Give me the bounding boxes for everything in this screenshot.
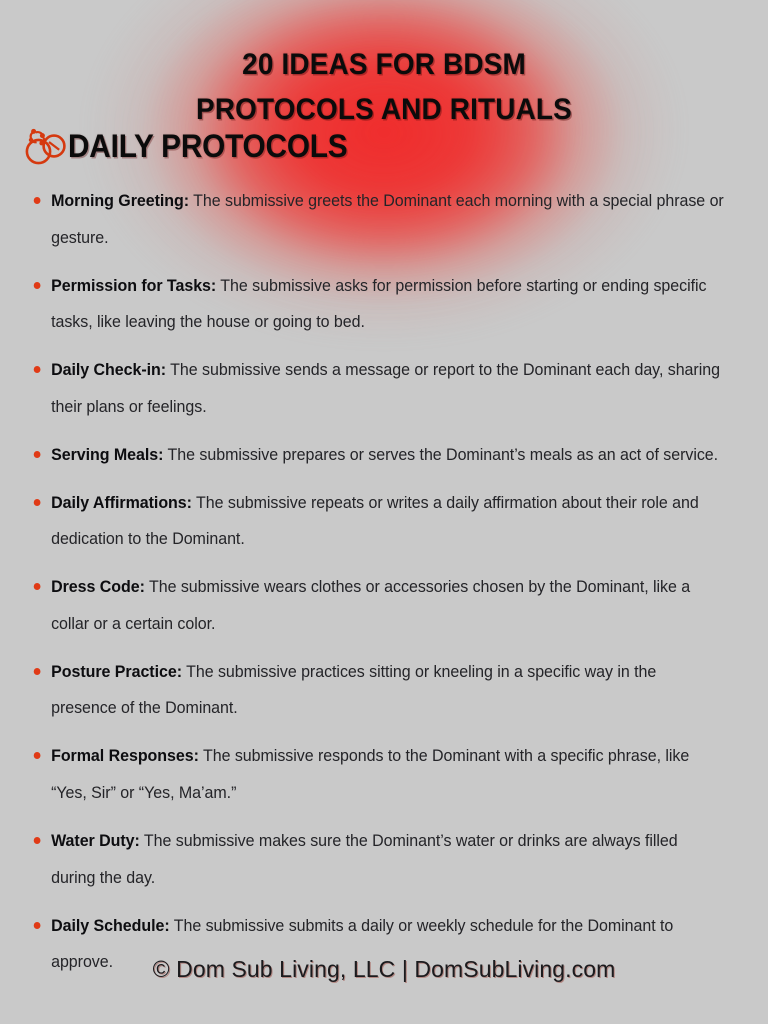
list-item-term: Daily Check-in: xyxy=(51,360,166,379)
list-item-desc: The submissive prepares or serves the Do… xyxy=(163,445,718,464)
bullet-dot-icon xyxy=(34,837,41,844)
poster-content: 20 IDEAS FOR BDSM PROTOCOLS AND RITUALS xyxy=(0,0,768,1024)
section-heading: DAILY PROTOCOLS xyxy=(22,124,368,168)
list-item: Serving Meals: The submissive prepares o… xyxy=(26,437,725,474)
list-item-desc: The submissive makes sure the Dominant’s… xyxy=(51,831,678,887)
footer-copyright: © Dom Sub Living, LLC | DomSubLiving.com xyxy=(0,955,768,983)
list-item: Permission for Tasks: The submissive ask… xyxy=(26,268,725,341)
bullet-dot-icon xyxy=(34,499,41,506)
bullet-dot-icon xyxy=(34,451,41,458)
list-item-term: Daily Schedule: xyxy=(51,916,170,935)
bullet-dot-icon xyxy=(34,668,41,675)
list-item: Dress Code: The submissive wears clothes… xyxy=(26,569,725,642)
list-item: Morning Greeting: The submissive greets … xyxy=(26,183,725,256)
list-item-term: Morning Greeting: xyxy=(51,191,189,210)
poster-page: 20 IDEAS FOR BDSM PROTOCOLS AND RITUALS xyxy=(0,0,768,1024)
list-item-term: Formal Responses: xyxy=(51,746,199,765)
handcuffs-icon xyxy=(22,124,66,168)
list-item-term: Posture Practice: xyxy=(51,662,182,681)
bullet-dot-icon xyxy=(34,583,41,590)
list-item: Posture Practice: The submissive practic… xyxy=(26,654,725,727)
page-title-line-1: 20 IDEAS FOR BDSM xyxy=(27,42,741,87)
page-title: 20 IDEAS FOR BDSM PROTOCOLS AND RITUALS xyxy=(27,42,741,132)
section-heading-label: DAILY PROTOCOLS xyxy=(68,128,347,164)
list-item-term: Daily Affirmations: xyxy=(51,493,192,512)
list-item-desc: The submissive wears clothes or accessor… xyxy=(51,577,690,633)
list-item-term: Water Duty: xyxy=(51,831,140,850)
list-item-term: Permission for Tasks: xyxy=(51,276,216,295)
list-item: Water Duty: The submissive makes sure th… xyxy=(26,823,725,896)
list-item-term: Serving Meals: xyxy=(51,445,163,464)
protocol-list: Morning Greeting: The submissive greets … xyxy=(26,183,750,981)
bullet-dot-icon xyxy=(34,197,41,204)
list-item: Daily Affirmations: The submissive repea… xyxy=(26,485,725,558)
bullet-dot-icon xyxy=(34,922,41,929)
bullet-dot-icon xyxy=(34,282,41,289)
list-item: Daily Check-in: The submissive sends a m… xyxy=(26,352,725,425)
list-item: Formal Responses: The submissive respond… xyxy=(26,738,725,811)
list-item-term: Dress Code: xyxy=(51,577,145,596)
bullet-dot-icon xyxy=(34,752,41,759)
bullet-dot-icon xyxy=(34,366,41,373)
